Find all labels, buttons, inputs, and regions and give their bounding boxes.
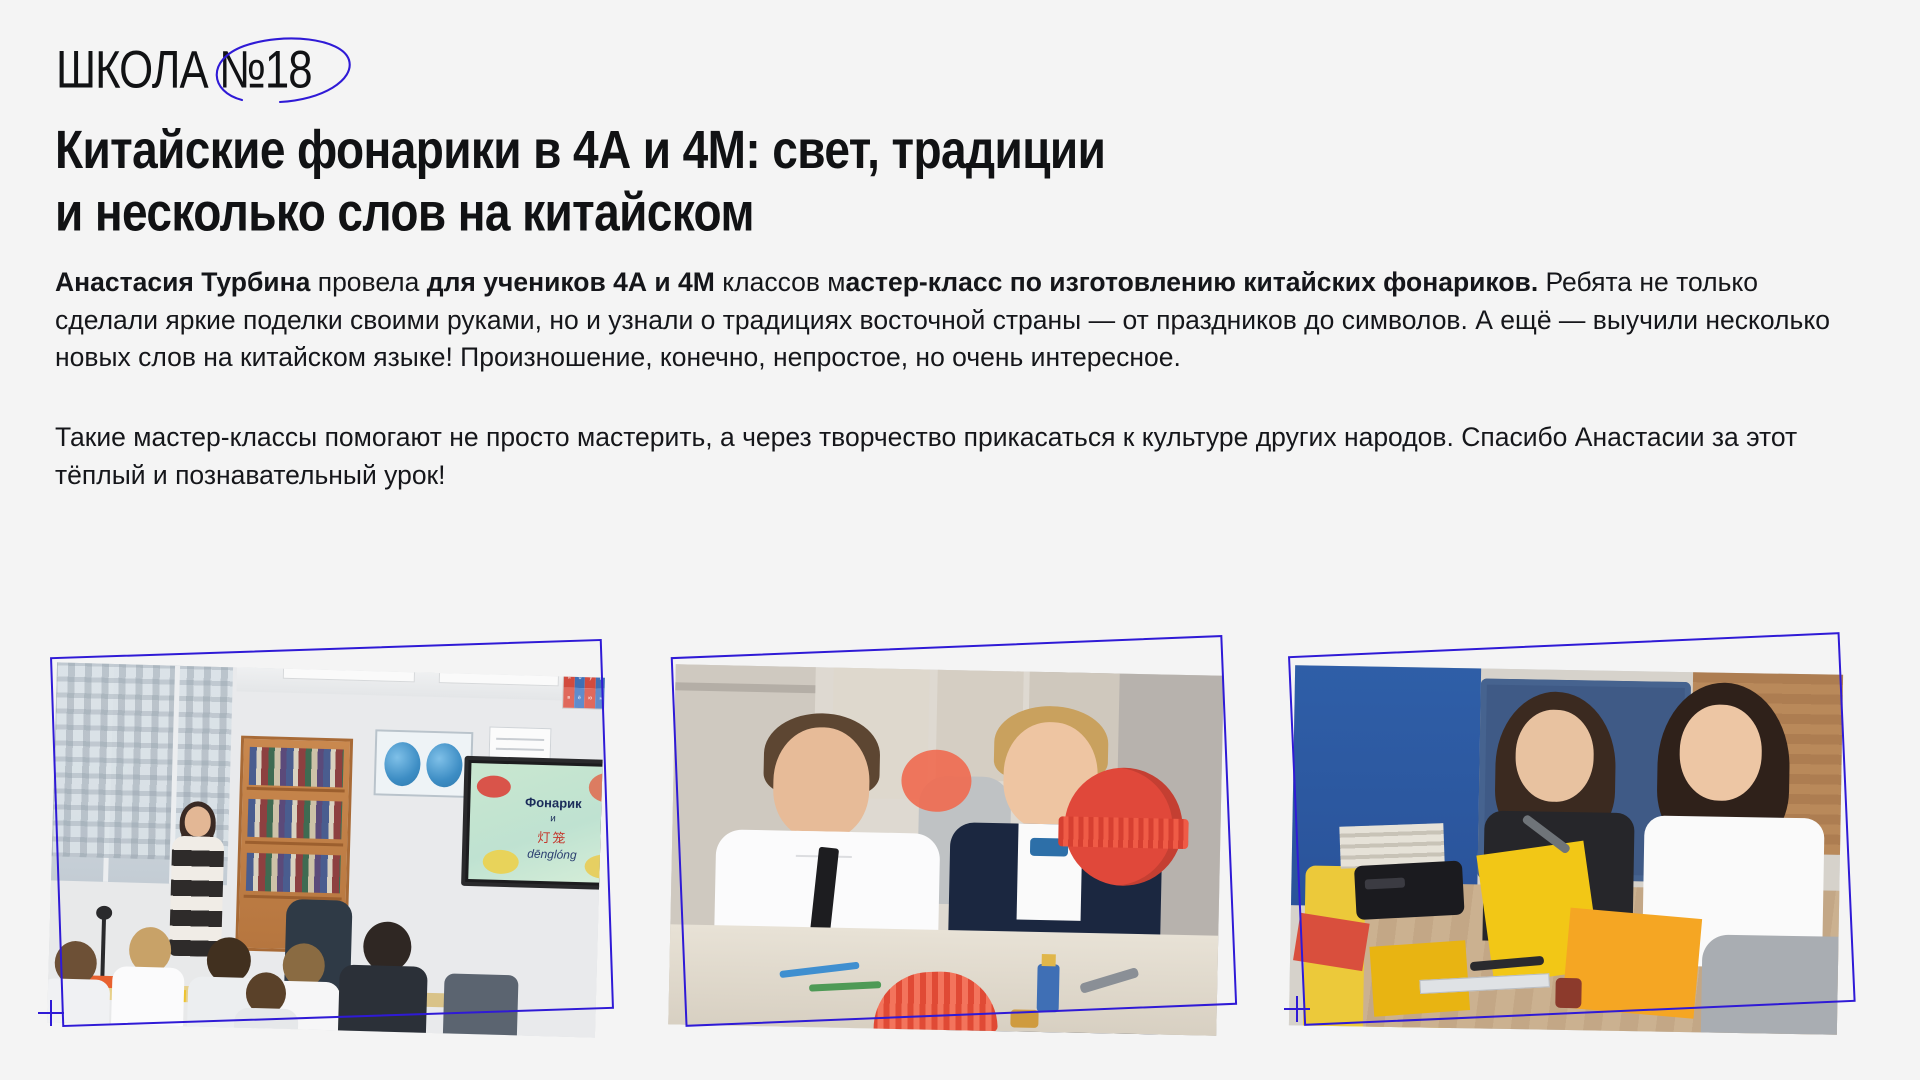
alphabet-chart: яоуыэнмлрйб вёюнепфатшк [562, 667, 605, 712]
photo-slot-3 [1292, 648, 1862, 1048]
photo-slot-2 [672, 648, 1242, 1048]
backpack [1700, 934, 1843, 1034]
student-figure [109, 926, 188, 1036]
paragraph-1-plain-2: классов м [715, 267, 846, 297]
masterclass-highlight: астер-класс по изготовлению китайских фо… [846, 267, 1539, 297]
teacher-name: Анастасия Турбина [55, 267, 310, 297]
school-logo-text: ШКОЛА №18 [56, 38, 312, 100]
small-craft-figure [1555, 978, 1582, 1008]
board-conjunction: и [470, 811, 605, 827]
page-title-line-2: и несколько слов на китайском [55, 181, 1455, 244]
article-paragraph-1: Анастасия Турбина провела для учеников 4… [55, 264, 1855, 377]
classes-highlight: для учеников 4А и 4М [427, 267, 715, 297]
board-title: Фонарик [470, 793, 605, 813]
article-paragraph-2: Такие мастер-классы помогают не просто м… [55, 419, 1855, 494]
photo-girls-with-yellow-paper [1289, 665, 1843, 1035]
article-body: Анастасия Турбина провела для учеников 4… [55, 264, 1855, 494]
backpack [443, 973, 519, 1037]
photo-classroom-presentation: яоуыэнмлрйб вёюнепфатшк [47, 662, 605, 1037]
slide-page: ШКОЛА №18 Китайские фонарики в 4А и 4М: … [0, 0, 1920, 1080]
pencil-case [1354, 860, 1465, 920]
student-figure [337, 920, 430, 1037]
photo-gallery: яоуыэнмлрйб вёюнепфатшк [0, 648, 1920, 1068]
photo-slot-1: яоуыэнмлрйб вёюнепфатшк [52, 648, 622, 1048]
eraser [1010, 1009, 1038, 1028]
page-title-line-1: Китайские фонарики в 4А и 4М: свет, трад… [55, 118, 1455, 181]
world-map-poster [374, 729, 474, 798]
interactive-whiteboard: Фонарик и 灯笼 dēnglóng [461, 756, 605, 891]
paragraph-1-plain-1: провела [310, 267, 426, 297]
school-logo: ШКОЛА №18 [56, 34, 346, 102]
orange-paper-sheet [1562, 908, 1702, 1019]
student-figure [47, 940, 113, 1034]
page-title: Китайские фонарики в 4А и 4М: свет, трад… [55, 118, 1455, 244]
glue-stick [1037, 964, 1060, 1012]
photo-boys-making-lanterns [668, 664, 1223, 1035]
student-figure [233, 971, 301, 1037]
